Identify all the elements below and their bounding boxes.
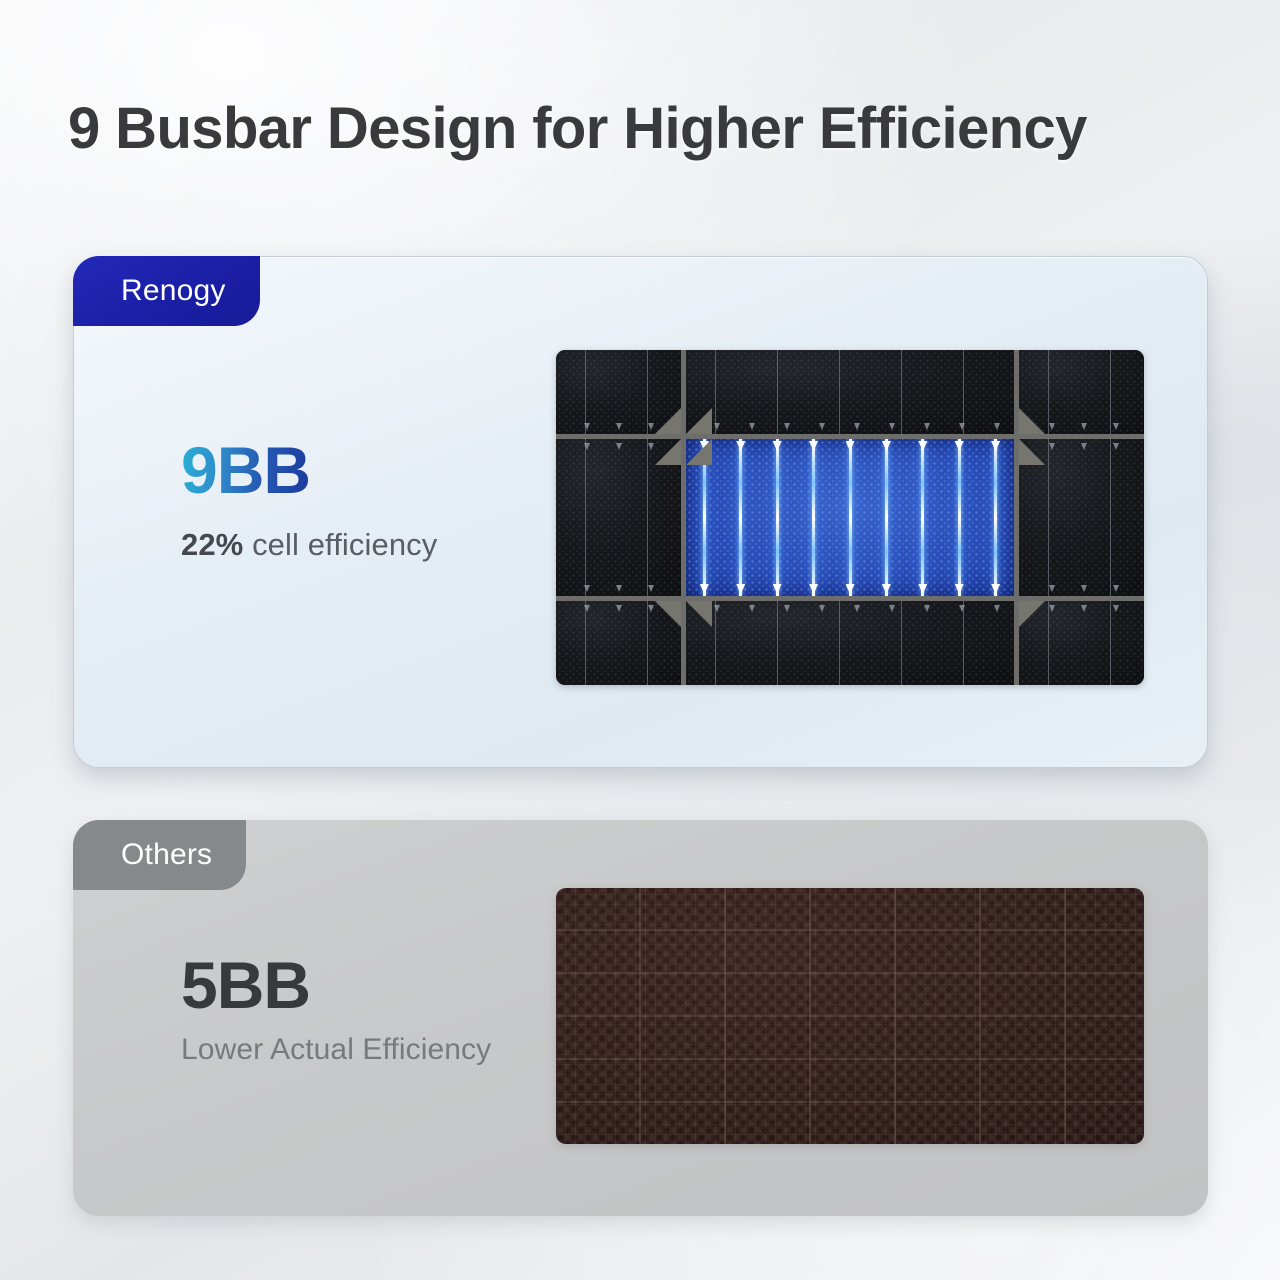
panel-cell-seams xyxy=(556,888,1144,1144)
busbar-line xyxy=(994,439,997,596)
others-busbar-headline: 5BB xyxy=(181,952,310,1018)
busbar-line xyxy=(703,439,706,596)
solar-cell xyxy=(1019,601,1144,685)
busbar-line xyxy=(812,439,815,596)
renogy-solar-panel-image xyxy=(556,350,1144,685)
cell-contact-pads xyxy=(556,601,681,685)
cell-contact-pads xyxy=(556,439,681,596)
cell-contact-pads xyxy=(686,350,1014,434)
solar-cell xyxy=(686,601,1014,685)
cell-contact-pads xyxy=(1019,601,1144,685)
busbar-line xyxy=(921,439,924,596)
solar-cell xyxy=(556,350,681,434)
page-title: 9 Busbar Design for Higher Efficiency xyxy=(68,95,1228,162)
renogy-busbar-headline: 9BB xyxy=(181,437,310,503)
solar-cell xyxy=(556,439,681,596)
renogy-badge-label: Renogy xyxy=(121,274,226,308)
renogy-brand-badge: Renogy xyxy=(73,256,260,326)
others-efficiency-label: Lower Actual Efficiency xyxy=(181,1033,491,1067)
cell-contact-pads xyxy=(1019,439,1144,596)
cell-contact-pads xyxy=(686,601,1014,685)
others-brand-badge: Others xyxy=(73,820,246,890)
solar-cell xyxy=(686,350,1014,434)
others-solar-panel-image xyxy=(556,888,1144,1144)
renogy-efficiency-label: cell efficiency xyxy=(243,527,437,562)
busbar-line xyxy=(739,439,742,596)
renogy-efficiency-value: 22% xyxy=(181,527,243,562)
busbar-line xyxy=(958,439,961,596)
highlighted-9-busbar-cell xyxy=(686,439,1014,596)
cell-contact-pads xyxy=(1019,350,1144,434)
busbar-line xyxy=(885,439,888,596)
busbar-line xyxy=(849,439,852,596)
solar-cell xyxy=(1019,439,1144,596)
busbar-group xyxy=(686,439,1014,596)
solar-cell-grid xyxy=(556,350,1144,685)
renogy-efficiency-text: 22% cell efficiency xyxy=(181,527,437,563)
solar-cell xyxy=(1019,350,1144,434)
cell-contact-pads xyxy=(556,350,681,434)
others-badge-label: Others xyxy=(121,838,212,872)
solar-cell xyxy=(556,601,681,685)
busbar-line xyxy=(776,439,779,596)
